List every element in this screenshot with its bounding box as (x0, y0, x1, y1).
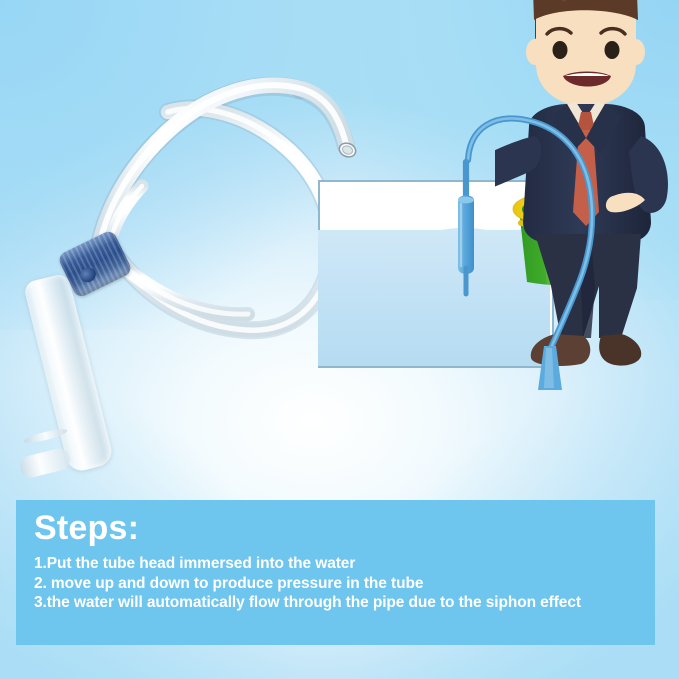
infographic-canvas: Steps: 1.Put the tube head immersed into… (0, 0, 679, 679)
steps-list: 1.Put the tube head immersed into the wa… (34, 554, 644, 613)
steps-title: Steps: (34, 508, 139, 548)
shoe-right (599, 334, 641, 366)
steps-banner: Steps: 1.Put the tube head immersed into… (16, 500, 655, 645)
step-item-2: 2. move up and down to produce pressure … (34, 574, 644, 594)
shoe-left (531, 334, 591, 366)
siphon-usage-illustration (300, 0, 679, 474)
step-item-1: 1.Put the tube head immersed into the wa… (34, 554, 644, 574)
eye-left (553, 41, 568, 59)
eye-right (605, 41, 620, 59)
cartoon-businessman (495, 0, 679, 386)
step-item-3: 3.the water will automatically flow thro… (34, 593, 644, 613)
face (536, 4, 636, 106)
